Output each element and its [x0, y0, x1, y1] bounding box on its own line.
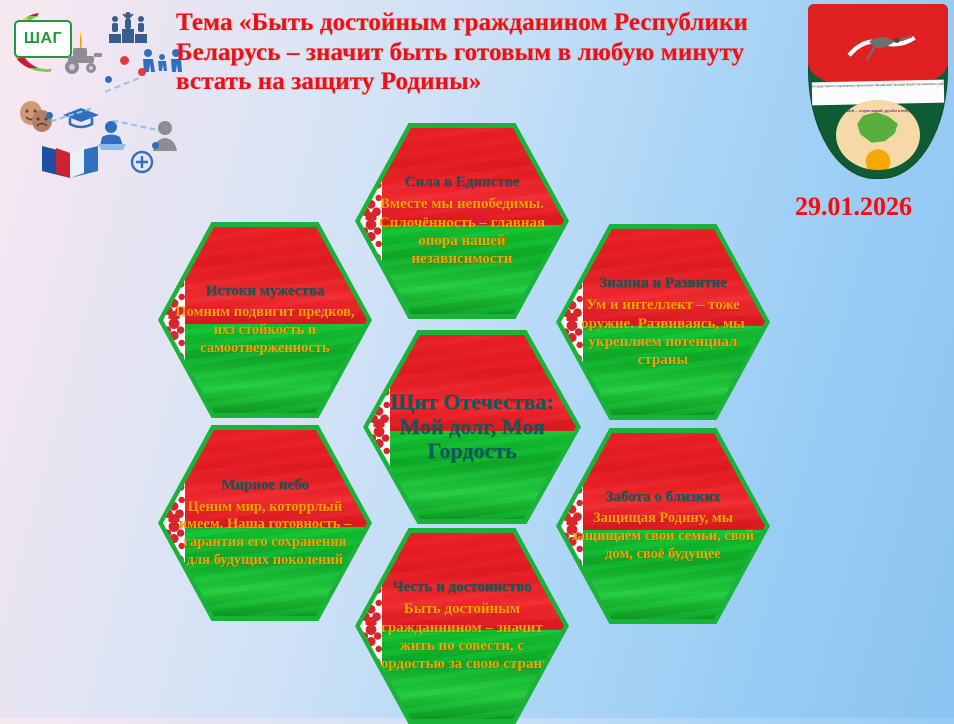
theatre-masks-icon: [18, 100, 60, 134]
hex-text: Быть достойным гражданнином – значит жит…: [370, 600, 554, 673]
hex-content: Мирное небо Ценим мир, которрлый имеем. …: [163, 430, 367, 616]
network-dot: [105, 76, 112, 83]
school-emblem: Государственное учреждение образования «…: [808, 4, 948, 179]
slide-date: 29.01.2026: [795, 192, 912, 222]
belarus-map-icon: [854, 111, 901, 147]
hex-text: Вместе мы непобедимы. Сплочённость – гла…: [370, 195, 554, 268]
hex-content: Честь и достоинство Быть достойным гражд…: [360, 533, 564, 719]
network-dot: [152, 142, 159, 149]
hex-text: Защищая Родину, мы защищаем свои семьи, …: [571, 510, 755, 563]
hex-card-shield-of-fatherland[interactable]: Щит Отечества: Мой долг, Моя Гордость: [363, 330, 581, 524]
hex-content: Сила в Единстве Вместе мы непобедимы. Сп…: [360, 128, 564, 314]
emblem-motto: Лицей — остров знаний, дружбы и победы: [839, 109, 916, 114]
hex-flag-background: Знания и Развитие Ум и интеллект – тоже …: [561, 229, 765, 415]
hex-flag-background: Истоки мужества Помним подвигит предков,…: [163, 227, 367, 413]
hex-content: Щит Отечества: Мой долг, Моя Гордость: [368, 335, 576, 519]
network-dot: [138, 68, 146, 76]
hex-content: Истоки мужества Помним подвигит предков,…: [163, 227, 367, 413]
hex-flag-background: Сила в Единстве Вместе мы непобедимы. Сп…: [360, 128, 564, 314]
hex-card-honor-dignity[interactable]: Честь и достоинство Быть достойным гражд…: [355, 528, 569, 724]
slide-title: Тема «Быть достойным гражданином Республ…: [176, 8, 816, 97]
hex-title: Истоки мужества: [206, 283, 325, 300]
presentation-slide: ШАГ: [0, 0, 954, 718]
network-dot: [46, 112, 53, 119]
hex-flag-background: Мирное небо Ценим мир, которрлый имеем. …: [163, 430, 367, 616]
hex-title: Честь и достоинство: [392, 579, 531, 596]
hex-flag-background: Щит Отечества: Мой долг, Моя Гордость: [368, 335, 576, 519]
hex-title: Мирное небо: [221, 477, 309, 494]
hex-card-courage-origins[interactable]: Истоки мужества Помним подвигит предков,…: [158, 222, 372, 418]
emblem-roundel: Лицей — остров знаний, дружбы и победы: [836, 100, 920, 170]
medical-cross-icon: [130, 150, 154, 174]
emblem-shield: Государственное учреждение образования «…: [808, 4, 948, 179]
hex-content: Забота о близких Защищая Родину, мы защи…: [561, 433, 765, 619]
hex-title: Забота о близких: [605, 489, 720, 506]
hex-text: Ум и интеллект – тоже оружие. Развиваясь…: [571, 296, 755, 369]
shag-belarus-logo: ШАГ: [2, 2, 188, 172]
hex-card-peaceful-sky[interactable]: Мирное небо Ценим мир, которрлый имеем. …: [158, 425, 372, 621]
hex-card-knowledge-development[interactable]: Знания и Развитие Ум и интеллект – тоже …: [556, 224, 770, 420]
hex-text: Ценим мир, которрлый имеем. Наша готовно…: [173, 499, 357, 570]
open-book-icon: [38, 144, 102, 180]
network-dot: [120, 56, 129, 65]
hex-content: Знания и Развитие Ум и интеллект – тоже …: [561, 229, 765, 415]
hex-title: Сила в Единстве: [405, 174, 520, 191]
podium-people-icon: [108, 12, 148, 44]
hex-flag-background: Честь и достоинство Быть достойным гражд…: [360, 533, 564, 719]
hex-card-unity[interactable]: Сила в Единстве Вместе мы непобедимы. Сп…: [355, 123, 569, 319]
hex-title: Щит Отечества: Мой долг, Моя Гордость: [378, 390, 566, 464]
hex-text: Помним подвигит предков, ихз стойкость и…: [173, 304, 357, 357]
hex-card-care-for-loved-ones[interactable]: Забота о близких Защищая Родину, мы защи…: [556, 428, 770, 624]
stork-icon: [844, 25, 920, 71]
hex-title: Знания и Развитие: [599, 275, 727, 292]
emblem-name-text: Государственное учреждение образования «…: [812, 80, 944, 90]
hex-flag-background: Забота о близких Защищая Родину, мы защи…: [561, 433, 765, 619]
tractor-icon: [60, 44, 106, 74]
